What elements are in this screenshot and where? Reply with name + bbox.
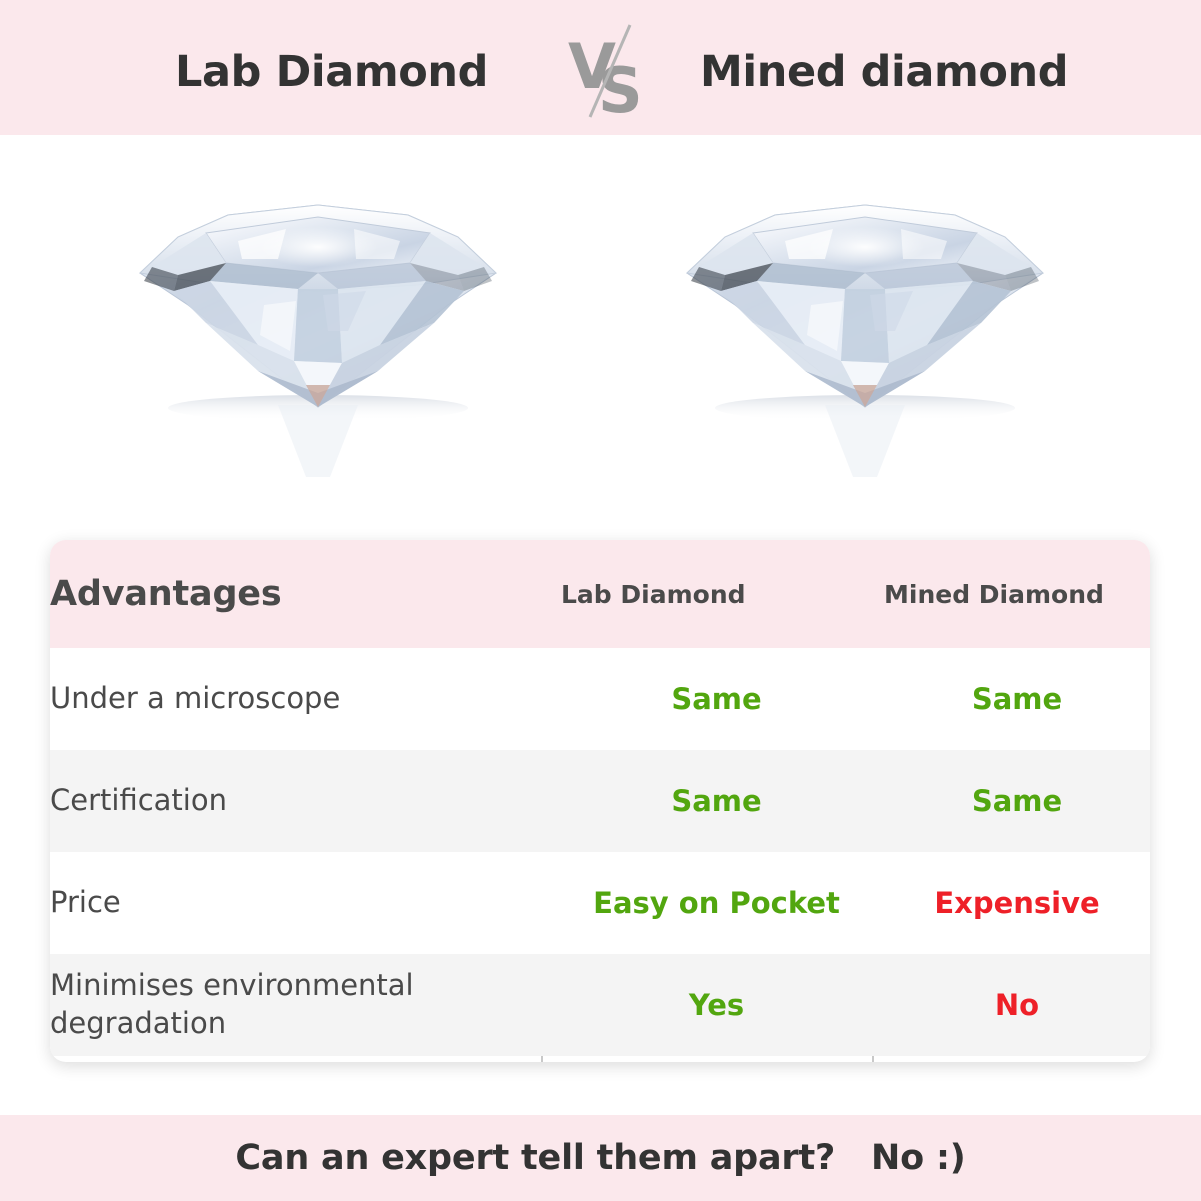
row-feature-label: Price — [50, 852, 541, 954]
row-mined-value: Expensive — [872, 852, 1150, 954]
row-mined-value: No — [872, 954, 1150, 1056]
comparison-table: Advantages Lab Diamond Mined Diamond Und… — [50, 540, 1150, 1056]
row-feature-label: Minimises environmental degradation — [50, 954, 541, 1056]
row-lab-value: Yes — [541, 954, 872, 1056]
row-lab-value: Same — [541, 648, 872, 750]
lab-diamond-image — [118, 155, 518, 485]
comparison-card: Advantages Lab Diamond Mined Diamond Und… — [50, 540, 1150, 1062]
diamond-image-stage — [0, 135, 1201, 535]
table-header-advantages: Advantages — [50, 540, 541, 648]
vs-slash-icon: V S — [556, 20, 656, 120]
row-feature-label: Certification — [50, 750, 541, 852]
table-row: Certification Same Same — [50, 750, 1150, 852]
table-row: Minimises environmental degradation Yes … — [50, 954, 1150, 1056]
header-title-mined-diamond: Mined diamond — [700, 47, 1068, 97]
row-lab-value: Same — [541, 750, 872, 852]
table-row: Under a microscope Same Same — [50, 648, 1150, 750]
footer-band: Can an expert tell them apart? No :) — [0, 1115, 1201, 1201]
header-inner: Lab Diamond V S Mined diamond — [0, 0, 1201, 135]
svg-text:S: S — [598, 54, 643, 120]
mined-diamond-image — [665, 155, 1065, 485]
row-mined-value: Same — [872, 750, 1150, 852]
header-title-lab-diamond: Lab Diamond — [175, 47, 488, 97]
footer-question-text: Can an expert tell them apart? No :) — [235, 1138, 965, 1178]
table-header-row: Advantages Lab Diamond Mined Diamond — [50, 540, 1150, 648]
header-band: Lab Diamond V S Mined diamond — [0, 0, 1201, 135]
table-header: Advantages Lab Diamond Mined Diamond — [50, 540, 1150, 648]
table-header-mined-diamond: Mined Diamond — [872, 540, 1150, 648]
table-row: Price Easy on Pocket Expensive — [50, 852, 1150, 954]
table-body: Under a microscope Same Same Certificati… — [50, 648, 1150, 1056]
row-feature-label: Under a microscope — [50, 648, 541, 750]
table-header-lab-diamond: Lab Diamond — [541, 540, 872, 648]
row-lab-value: Easy on Pocket — [541, 852, 872, 954]
row-mined-value: Same — [872, 648, 1150, 750]
